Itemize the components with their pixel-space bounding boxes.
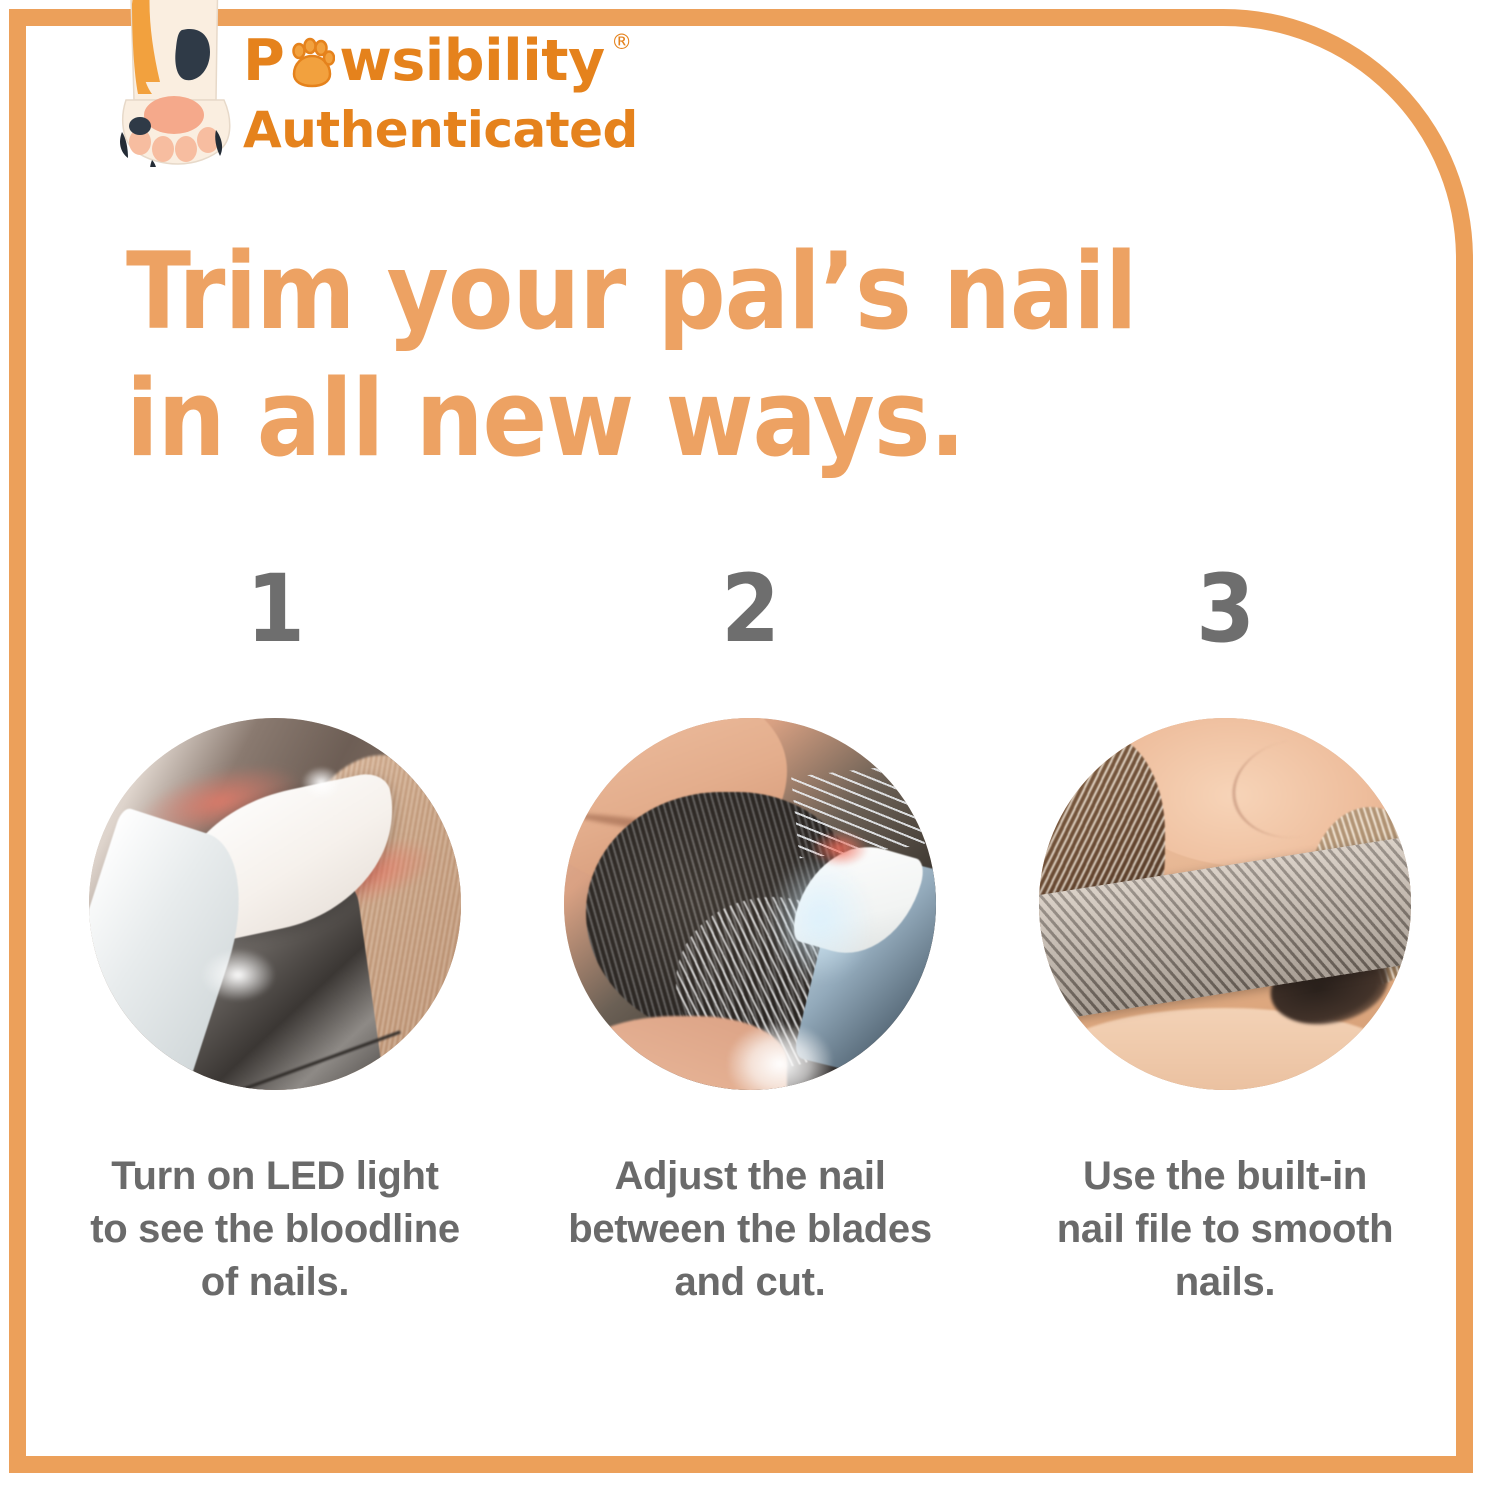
- nail-file-smoothing-photo: [1039, 718, 1411, 1090]
- logo-line-powsibility: P wsibility ®: [243, 30, 843, 96]
- caption-line: nail file to smooth: [1010, 1203, 1440, 1256]
- step-item-1: 1 Turn on LED light to see the bloo: [60, 560, 490, 1309]
- headline-line-1: Trim your pal’s nail: [126, 228, 1126, 355]
- steps-row: 1 Turn on LED light to see the bloo: [60, 560, 1440, 1309]
- logo-text-wsibility: wsibility: [339, 30, 604, 92]
- page-title: Trim your pal’s nail in all new ways.: [126, 228, 1126, 482]
- registered-trademark-icon: ®: [611, 30, 632, 54]
- caption-line: between the blades: [535, 1203, 965, 1256]
- logo-text-authenticated: Authenticated: [243, 100, 843, 160]
- brand-logo: P wsibility ® Authenticated: [243, 30, 843, 160]
- step-caption-1: Turn on LED light to see the bloodline o…: [60, 1150, 490, 1309]
- caption-line: nails.: [1010, 1256, 1440, 1309]
- caption-line: to see the bloodline: [60, 1203, 490, 1256]
- cat-paw-illustration: [112, 0, 240, 167]
- step-number-1: 1: [246, 560, 304, 670]
- step-number-3: 3: [1196, 560, 1254, 670]
- headline-line-2: in all new ways.: [126, 355, 1126, 482]
- caption-line: Adjust the nail: [535, 1150, 965, 1203]
- caption-line: Turn on LED light: [60, 1150, 490, 1203]
- led-light-nail-photo: [89, 718, 461, 1090]
- caption-line: of nails.: [60, 1256, 490, 1309]
- step-item-3: 3 Use the built-in nail file to smooth: [1010, 560, 1440, 1309]
- caption-line: Use the built-in: [1010, 1150, 1440, 1203]
- step-item-2: 2 Adjust the nail: [535, 560, 965, 1309]
- step-number-2: 2: [721, 560, 779, 670]
- step-caption-3: Use the built-in nail file to smooth nai…: [1010, 1150, 1440, 1309]
- logo-letter-p: P: [243, 30, 284, 92]
- caption-line: and cut.: [535, 1256, 965, 1309]
- poster-root: P wsibility ® Authenticated Trim your pa…: [0, 0, 1500, 1500]
- step-caption-2: Adjust the nail between the blades and c…: [535, 1150, 965, 1309]
- paw-print-icon: [289, 30, 335, 92]
- nail-between-blades-photo: [564, 718, 936, 1090]
